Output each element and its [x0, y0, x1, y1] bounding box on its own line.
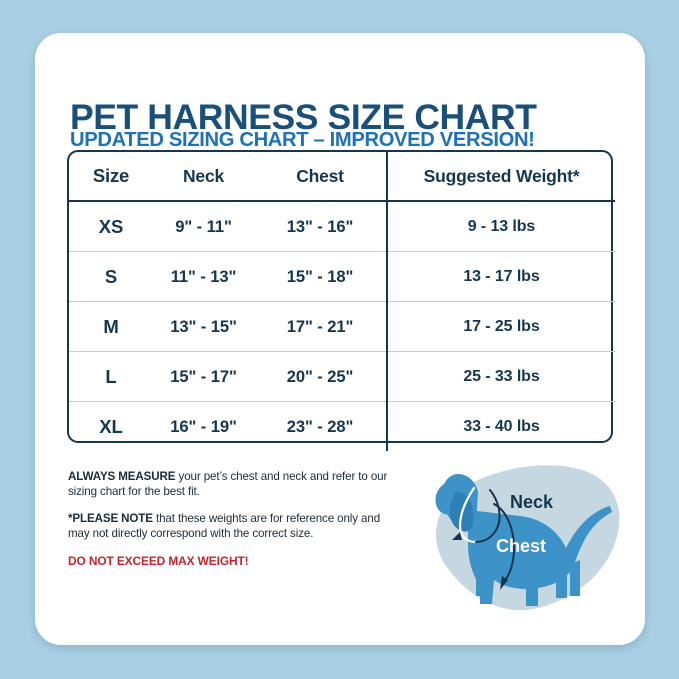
neck-label: Neck — [510, 492, 554, 512]
cell-weight: 17 - 25 lbs — [387, 302, 615, 352]
cell-size: S — [69, 252, 153, 302]
cell-chest: 23" - 28" — [254, 402, 387, 452]
column-header-chest: Chest — [254, 152, 387, 201]
note-always-measure: ALWAYS MEASURE your pet’s chest and neck… — [68, 470, 398, 499]
size-table: Size Neck Chest Suggested Weight* XS 9" … — [69, 152, 615, 451]
table-row: M 13" - 15" 17" - 21" 17 - 25 lbs — [69, 302, 615, 352]
note-max-weight-warning: DO NOT EXCEED MAX WEIGHT! — [68, 554, 398, 569]
cell-neck: 16" - 19" — [153, 402, 254, 452]
table-row: XS 9" - 11" 13" - 16" 9 - 13 lbs — [69, 201, 615, 252]
cell-neck: 15" - 17" — [153, 352, 254, 402]
size-table-container: Size Neck Chest Suggested Weight* XS 9" … — [67, 150, 613, 443]
footer-notes: ALWAYS MEASURE your pet’s chest and neck… — [68, 470, 398, 569]
cell-size: M — [69, 302, 153, 352]
dog-measurement-illustration: Neck Chest — [410, 448, 635, 628]
cell-size: XS — [69, 201, 153, 252]
table-row: XL 16" - 19" 23" - 28" 33 - 40 lbs — [69, 402, 615, 452]
table-header: Size Neck Chest Suggested Weight* — [69, 152, 615, 201]
column-header-weight: Suggested Weight* — [387, 152, 615, 201]
table-row: L 15" - 17" 20" - 25" 25 - 33 lbs — [69, 352, 615, 402]
note-please-note-bold: *PLEASE NOTE — [68, 512, 153, 525]
cell-chest: 20" - 25" — [254, 352, 387, 402]
table-row: S 11" - 13" 15" - 18" 13 - 17 lbs — [69, 252, 615, 302]
cell-size: L — [69, 352, 153, 402]
table-body: XS 9" - 11" 13" - 16" 9 - 13 lbs S 11" -… — [69, 201, 615, 451]
column-header-neck: Neck — [153, 152, 254, 201]
cell-neck: 11" - 13" — [153, 252, 254, 302]
page-root: PET HARNESS SIZE CHART UPDATED SIZING CH… — [0, 0, 679, 679]
size-chart-card: PET HARNESS SIZE CHART UPDATED SIZING CH… — [35, 33, 645, 645]
cell-chest: 13" - 16" — [254, 201, 387, 252]
cell-weight: 25 - 33 lbs — [387, 352, 615, 402]
cell-weight: 13 - 17 lbs — [387, 252, 615, 302]
cell-chest: 15" - 18" — [254, 252, 387, 302]
column-header-size: Size — [69, 152, 153, 201]
page-subtitle: UPDATED SIZING CHART – IMPROVED VERSION! — [70, 128, 626, 152]
cell-size: XL — [69, 402, 153, 452]
cell-weight: 33 - 40 lbs — [387, 402, 615, 452]
cell-neck: 13" - 15" — [153, 302, 254, 352]
cell-neck: 9" - 11" — [153, 201, 254, 252]
table-header-row: Size Neck Chest Suggested Weight* — [69, 152, 615, 201]
chest-label: Chest — [496, 536, 546, 556]
cell-weight: 9 - 13 lbs — [387, 201, 615, 252]
note-please-note: *PLEASE NOTE that these weights are for … — [68, 512, 398, 541]
note-always-measure-bold: ALWAYS MEASURE — [68, 470, 175, 483]
cell-chest: 17" - 21" — [254, 302, 387, 352]
